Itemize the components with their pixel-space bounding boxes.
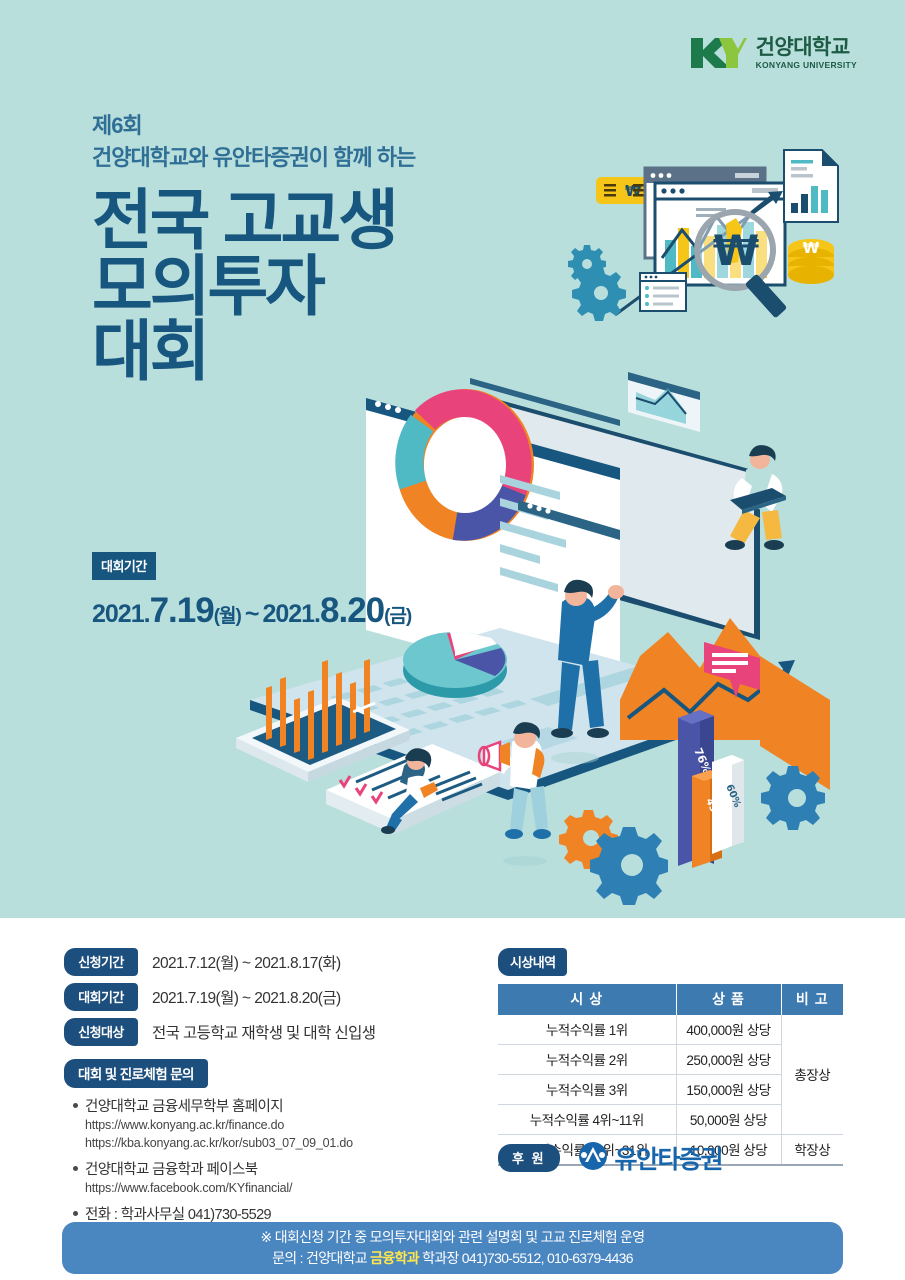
eligibility-value: 전국 고등학교 재학생 및 대학 신입생 [152, 1021, 375, 1043]
detail-row: 신청대상 전국 고등학교 재학생 및 대학 신입생 [64, 1018, 464, 1046]
awards-table: 시 상 상 품 비 고 누적수익률 1위 400,000원 상당 총장상 누적수… [498, 984, 843, 1166]
cell-note: 학장상 [781, 1135, 843, 1166]
period-start-date: 7.19 [150, 591, 214, 630]
table-row: 누적수익률 1위 400,000원 상당 총장상 [498, 1015, 843, 1045]
cell-prize: 누적수익률 1위 [498, 1015, 676, 1045]
bullet-dot-icon [73, 1166, 78, 1171]
cell-note: 총장상 [781, 1015, 843, 1135]
banner-line-2: 문의 : 건양대학교 금융학과 학과장 041)730-5512, 010-63… [272, 1248, 633, 1269]
list-item: 건양대학교 금융세무학부 홈페이지 https://www.konyang.ac… [73, 1095, 464, 1152]
svg-text:₩: ₩ [625, 182, 642, 200]
banner-line-1: ※ 대회신청 기간 중 모의투자대회와 관련 설명회 및 고교 진로체험 운영 [261, 1227, 645, 1248]
detail-row: 대회기간 2021.7.19(월) ~ 2021.8.20(금) [64, 983, 464, 1011]
banner-pre: 문의 : 건양대학교 [272, 1250, 370, 1266]
eligibility-label: 신청대상 [64, 1018, 138, 1046]
table-header-row: 시 상 상 품 비 고 [498, 984, 843, 1015]
contact-url[interactable]: https://kba.konyang.ac.kr/kor/sub03_07_0… [85, 1134, 464, 1152]
sponsor-block: 후 원 유안타증권 [498, 1140, 722, 1176]
contest-period-label: 대회기간 [64, 983, 138, 1011]
apply-period-label: 신청기간 [64, 948, 138, 976]
sponsor-name: 유안타증권 [615, 1140, 723, 1176]
main-title: 전국 고교생 모의투자 대회 [92, 188, 415, 384]
cell-amount: 250,000원 상당 [676, 1045, 781, 1075]
contact-title: 건양대학교 금융학과 페이스북 [85, 1158, 257, 1179]
university-logo: 건양대학교 KONYANG UNIVERSITY [689, 36, 857, 70]
person-megaphone-icon [479, 722, 551, 866]
period-start-year: 2021. [92, 600, 150, 628]
bullet-dot-icon [73, 1103, 78, 1108]
university-name-kr: 건양대학교 [756, 37, 857, 58]
period-tilde: ~ [241, 600, 263, 628]
contest-period-block: 대회기간 2021.7.19(월)~2021.8.20(금) [92, 552, 411, 631]
hero-section: ₩ [0, 0, 905, 918]
yuanta-triangle-icon [578, 1141, 608, 1176]
percentage-bars-icon: 76% 45% 60% [678, 710, 744, 868]
cell-amount: 150,000원 상당 [676, 1075, 781, 1105]
edition-label: 제6회 [92, 112, 415, 140]
period-end-day: (금) [384, 606, 411, 627]
svg-text:60%: 60% [723, 783, 742, 809]
apply-period-value: 2021.7.12(월) ~ 2021.8.17(화) [152, 951, 341, 973]
col-prize: 시 상 [498, 984, 676, 1015]
list-item: 건양대학교 금융학과 페이스북 https://www.facebook.com… [73, 1158, 464, 1197]
sponsor-logo: 유안타증권 [578, 1140, 723, 1176]
svg-text:76%: 76% [691, 746, 713, 775]
bottom-banner: ※ 대회신청 기간 중 모의투자대회와 관련 설명회 및 고교 진로체험 운영 … [62, 1222, 843, 1274]
col-note: 비 고 [781, 984, 843, 1015]
period-end-year: 2021. [262, 600, 320, 628]
person-laptop-icon [725, 445, 786, 550]
svg-text:45%: 45% [703, 797, 722, 823]
headline-block: 제6회 건양대학교와 유안타증권이 함께 하는 전국 고교생 모의투자 대회 [92, 112, 415, 384]
cell-amount: 400,000원 상당 [676, 1015, 781, 1045]
person-seated-icon [381, 748, 438, 834]
banner-post: 학과장 041)730-5512, 010-6379-4436 [419, 1250, 633, 1266]
analytics-cluster-icon: ₩ [568, 150, 838, 321]
person-presenting-icon [551, 580, 624, 764]
period-end-date: 8.20 [320, 591, 384, 630]
detail-row: 신청기간 2021.7.12(월) ~ 2021.8.17(화) [64, 948, 464, 976]
title-line-1: 전국 고교생 [92, 188, 415, 253]
poster-root: ₩ [0, 0, 905, 1280]
svg-text:₩: ₩ [803, 239, 820, 257]
col-amount: 상 품 [676, 984, 781, 1015]
cell-prize: 누적수익률 2위 [498, 1045, 676, 1075]
period-dates: 2021.7.19(월)~2021.8.20(금) [92, 591, 411, 631]
cell-prize: 누적수익률 3위 [498, 1075, 676, 1105]
cohost-label: 건양대학교와 유안타증권이 함께 하는 [92, 144, 415, 172]
period-start-day: (월) [214, 606, 241, 627]
period-tag: 대회기간 [92, 552, 156, 580]
contest-period-value: 2021.7.19(월) ~ 2021.8.20(금) [152, 986, 341, 1008]
isometric-laptop-scene: 76% 45% 60% [236, 372, 830, 905]
contact-url[interactable]: https://www.facebook.com/KYfinancial/ [85, 1179, 464, 1197]
university-name-en: KONYANG UNIVERSITY [756, 61, 857, 70]
contact-title: 건양대학교 금융세무학부 홈페이지 [85, 1095, 283, 1116]
title-line-3: 대회 [92, 319, 415, 384]
banner-highlight: 금융학과 [370, 1250, 419, 1266]
awards-column: 시상내역 시 상 상 품 비 고 누적수익률 1위 400,000원 상당 총장… [498, 948, 848, 1166]
ky-monogram-icon [689, 36, 747, 70]
awards-tag: 시상내역 [498, 948, 567, 976]
cell-amount: 50,000원 상당 [676, 1105, 781, 1135]
sponsor-tag: 후 원 [498, 1144, 560, 1172]
title-line-2: 모의투자 [92, 254, 415, 319]
svg-text:₩: ₩ [713, 226, 759, 275]
contact-url[interactable]: https://www.konyang.ac.kr/finance.do [85, 1116, 464, 1134]
contact-heading: 대회 및 진로체험 문의 [64, 1059, 208, 1088]
cell-prize: 누적수익률 4위~11위 [498, 1105, 676, 1135]
bullet-dot-icon [73, 1211, 78, 1216]
contact-list: 건양대학교 금융세무학부 홈페이지 https://www.konyang.ac… [73, 1095, 464, 1224]
details-column: 신청기간 2021.7.12(월) ~ 2021.8.17(화) 대회기간 20… [64, 948, 464, 1230]
